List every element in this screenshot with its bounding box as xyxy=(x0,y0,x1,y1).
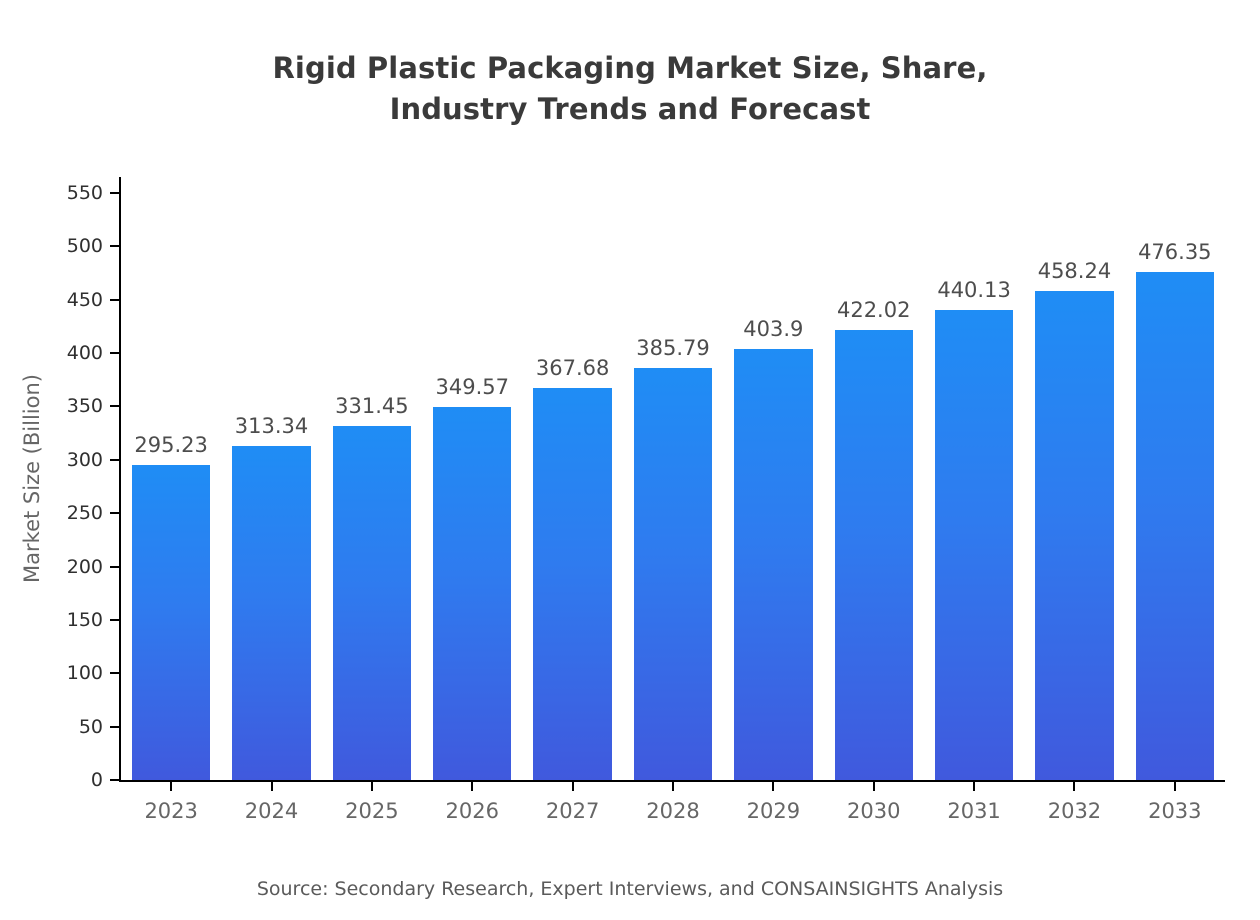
y-axis-tick-mark xyxy=(110,299,119,301)
bar-2029[interactable] xyxy=(734,349,812,780)
x-axis-tick-mark xyxy=(371,782,373,791)
y-axis-spine xyxy=(119,177,121,780)
x-axis-tick-mark xyxy=(1073,782,1075,791)
y-axis-tick-mark xyxy=(110,352,119,354)
chart-title-line-1: Rigid Plastic Packaging Market Size, Sha… xyxy=(0,48,1260,89)
x-axis-tick-mark xyxy=(271,782,273,791)
y-axis-tick-mark xyxy=(110,405,119,407)
y-axis-tick-label: 550 xyxy=(13,182,103,204)
bar-2028[interactable] xyxy=(634,368,712,780)
y-axis-tick-label: 250 xyxy=(13,502,103,524)
y-axis-tick-mark xyxy=(110,726,119,728)
x-axis-tick-mark xyxy=(170,782,172,791)
y-axis-tick-label: 100 xyxy=(13,662,103,684)
x-axis-tick-mark xyxy=(471,782,473,791)
y-axis-tick-label: 0 xyxy=(13,769,103,791)
bar-2032[interactable] xyxy=(1035,291,1113,780)
bar-2023[interactable] xyxy=(132,465,210,780)
y-axis-title: Market Size (Billion) xyxy=(20,177,44,780)
y-axis-tick-mark xyxy=(110,459,119,461)
y-axis-tick-mark xyxy=(110,779,119,781)
y-axis-tick-label: 150 xyxy=(13,609,103,631)
y-axis-tick-label: 50 xyxy=(13,716,103,738)
x-axis-tick-mark xyxy=(672,782,674,791)
source-note: Source: Secondary Research, Expert Inter… xyxy=(0,878,1260,900)
bar-2024[interactable] xyxy=(232,446,310,780)
bar-2026[interactable] xyxy=(433,407,511,780)
x-axis-tick-mark xyxy=(572,782,574,791)
x-axis-tick-mark xyxy=(1174,782,1176,791)
x-axis-tick-label-2033: 2033 xyxy=(1105,799,1245,823)
bar-2033[interactable] xyxy=(1136,272,1214,780)
bar-2031[interactable] xyxy=(935,310,1013,780)
plot-area: Market Size (Billion) 050100150200250300… xyxy=(121,177,1225,780)
x-axis-tick-mark xyxy=(772,782,774,791)
x-axis-tick-mark xyxy=(973,782,975,791)
y-axis-tick-label: 450 xyxy=(13,289,103,311)
y-axis-tick-label: 400 xyxy=(13,342,103,364)
x-axis-tick-mark xyxy=(873,782,875,791)
bar-value-label-2033: 476.35 xyxy=(1095,240,1255,264)
y-axis-tick-mark xyxy=(110,192,119,194)
y-axis-tick-label: 300 xyxy=(13,449,103,471)
y-axis-tick-mark xyxy=(110,245,119,247)
bar-2027[interactable] xyxy=(533,388,611,780)
y-axis-tick-mark xyxy=(110,512,119,514)
chart-title-line-2: Industry Trends and Forecast xyxy=(0,89,1260,130)
chart-figure: Rigid Plastic Packaging Market Size, Sha… xyxy=(0,0,1260,920)
y-axis-tick-label: 500 xyxy=(13,235,103,257)
y-axis-tick-mark xyxy=(110,672,119,674)
y-axis-tick-label: 200 xyxy=(13,556,103,578)
bar-2030[interactable] xyxy=(835,330,913,780)
y-axis-tick-label: 350 xyxy=(13,395,103,417)
chart-title: Rigid Plastic Packaging Market Size, Sha… xyxy=(0,48,1260,130)
y-axis-tick-mark xyxy=(110,566,119,568)
y-axis-tick-mark xyxy=(110,619,119,621)
bar-2025[interactable] xyxy=(333,426,411,780)
